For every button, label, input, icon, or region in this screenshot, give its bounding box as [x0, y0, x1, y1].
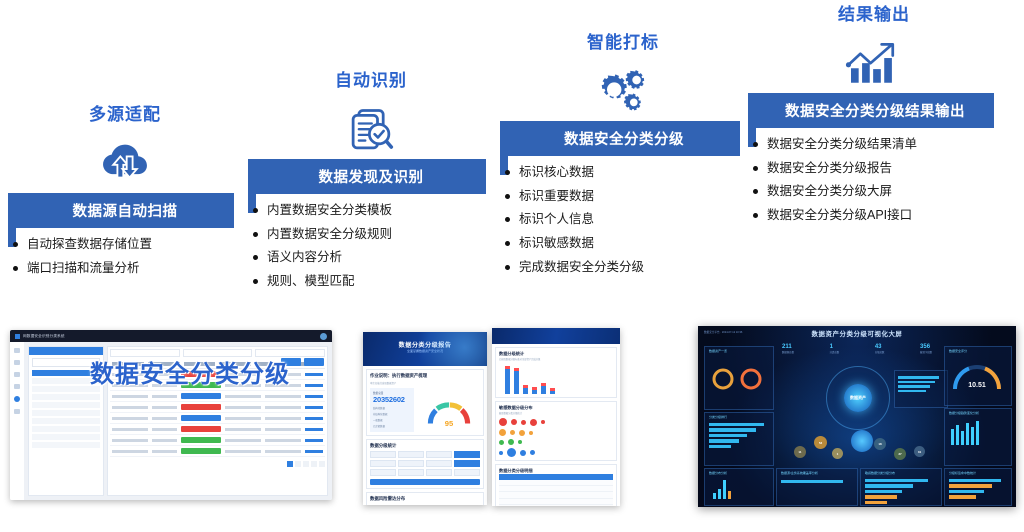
orbit-node: 1	[832, 448, 843, 459]
column-title: 结果输出	[748, 0, 1000, 25]
card-3: 数据安全分类分级 标识核心数据 标识重要数据 标识个人信息 标识敏感数据 完成数…	[500, 121, 746, 275]
bullet-item: 内置数据安全分级规则	[252, 227, 494, 243]
screenshot-report-page[interactable]: 数据分类分级报告 全面掌握数据资产安全状况 作业说明：执行数据资产梳理 本次扫描…	[363, 332, 487, 505]
kpi-mini-stat: 非结构化数据	[373, 412, 411, 416]
report-hero-banner: 数据分类分级报告 全面掌握数据资产安全状况	[363, 332, 487, 366]
grade-bar-chart	[499, 364, 613, 394]
pagination[interactable]	[110, 457, 325, 467]
column-title: 多源适配	[8, 100, 242, 125]
bullet-item: 标识核心数据	[504, 165, 746, 181]
cell-description	[152, 417, 177, 420]
panel-label-hits: 分级标签命中数统计	[944, 468, 1012, 506]
bubble	[541, 420, 545, 424]
card-bullets: 内置数据安全分类模板 内置数据安全分级规则 语义内容分析 规则、模型匹配	[248, 194, 494, 290]
avatar[interactable]	[320, 333, 327, 340]
panel-coverage: 数据源/业务系统覆盖率分析	[776, 468, 858, 506]
bullet-item: 标识重要数据	[504, 189, 746, 205]
dashboard-title: 数据资产分类分级可视化大屏	[698, 329, 1016, 338]
bar-chart-trend-icon	[748, 35, 1000, 93]
bar	[532, 387, 537, 394]
panel-asset-overview: 数据资产一览	[704, 346, 774, 410]
table-row[interactable]	[110, 424, 325, 435]
card-bullets: 标识核心数据 标识重要数据 标识个人信息 标识敏感数据 完成数据安全分类分级	[500, 156, 746, 275]
cell-type	[225, 406, 261, 409]
bubble	[521, 420, 526, 425]
grade-chip[interactable]	[454, 469, 480, 476]
bar	[976, 421, 979, 445]
bar	[865, 490, 902, 493]
report-summary-panel: 作业说明：执行数据资产梳理 本次扫描共发现数据资产 数据总量 20352602 …	[366, 369, 484, 436]
kpi-mini-stat: 结构化数据	[373, 406, 411, 410]
orbit-node: 11	[794, 446, 806, 458]
cell-system	[112, 439, 148, 442]
bar	[723, 480, 726, 499]
bar	[865, 501, 887, 504]
panel-sensitive-distribution: 敏感数据分类分级分布	[860, 468, 942, 506]
bar	[951, 429, 954, 445]
panel-subtitle: 本次扫描共发现数据资产	[370, 381, 480, 385]
panel-tooltip-list	[894, 370, 948, 408]
grade-chip[interactable]	[398, 469, 424, 476]
screenshot-bigscreen-dashboard[interactable]: 数据安全平台 · 2024-07-12 10:36 数据资产分类分级可视化大屏 …	[698, 326, 1016, 507]
grade-chip-grid[interactable]	[370, 451, 480, 476]
cell-system	[112, 450, 148, 453]
list-row	[898, 385, 930, 388]
grade-chip[interactable]	[454, 460, 480, 467]
bar	[713, 493, 716, 499]
bubble	[499, 418, 507, 426]
row-actions[interactable]	[305, 450, 323, 453]
bubble	[499, 451, 503, 455]
cell-type	[225, 439, 261, 442]
kpi-label: 分类总数	[830, 350, 840, 354]
kpi-item: 356 敏感字段数	[920, 344, 932, 354]
bubble	[530, 419, 537, 426]
cell-type	[225, 428, 261, 431]
coverage-bar	[781, 480, 843, 483]
panel-subtitle: 已按照数据分级标准对全部资产完成分级	[499, 357, 613, 361]
card-header: 数据发现及识别	[256, 159, 486, 194]
screenshot-statistics-page[interactable]: 数据分级统计 已按照数据分级标准对全部资产完成分级 敏感数据分级分布 敏感数据分…	[492, 328, 620, 506]
rank-bar	[709, 434, 747, 437]
security-score-gauge: 95	[417, 388, 480, 432]
orbit-node: 18	[874, 438, 886, 450]
distribution-bar-chart	[705, 475, 773, 499]
column-title: 自动识别	[248, 66, 494, 91]
tree-node[interactable]	[32, 418, 100, 424]
nav-icon-dashboard[interactable]	[14, 348, 20, 353]
kpi-mini-stat: 一般数据	[373, 418, 411, 422]
kpi-item: 1 分类总数	[830, 344, 840, 354]
product-screenshot-strip: 网数据安全识别分类系统	[0, 324, 1024, 532]
page-button[interactable]	[311, 461, 317, 467]
level-tag	[181, 404, 221, 410]
table-row[interactable]	[110, 446, 325, 457]
cell-description	[152, 428, 177, 431]
bar	[541, 383, 546, 394]
nav-icon-assets[interactable]	[14, 360, 20, 365]
bar	[956, 425, 959, 445]
dashboard-kpi-row: 211 数据源总数 1 分类总数 43 分级总数 356 敏感字段数	[782, 344, 932, 354]
grade-chip[interactable]	[426, 469, 452, 476]
cloud-sync-icon	[8, 135, 242, 193]
bullet-item: 数据安全分类分级结果清单	[752, 137, 1000, 153]
card-header: 数据源自动扫描	[16, 193, 234, 228]
list-row	[898, 376, 939, 379]
bullet-item: 完成数据安全分类分级	[504, 260, 746, 276]
cell-attribute	[265, 428, 301, 431]
cell-system	[112, 428, 148, 431]
grade-chip[interactable]	[426, 451, 452, 458]
central-orbit-graph: 数据资产	[826, 366, 890, 430]
table-row[interactable]	[110, 435, 325, 446]
kpi-item: 43 分级总数	[875, 344, 885, 354]
bullet-item: 数据安全分类分级报告	[752, 161, 1000, 177]
row-actions[interactable]	[305, 395, 323, 398]
orbit-node	[851, 430, 873, 452]
document-search-icon	[248, 101, 494, 159]
grade-chip[interactable]	[426, 460, 452, 467]
level-tag	[181, 448, 221, 454]
view-detail-button[interactable]	[370, 479, 480, 485]
tree-node[interactable]	[32, 434, 100, 440]
bubble	[518, 440, 522, 444]
process-column-2: 自动识别 数据发现及识别 内置数据安全分类模板 内置数据	[248, 66, 494, 298]
level-tag	[181, 437, 221, 443]
process-column-1: 多源适配 数据源自动扫描 自动探查数据存储位置 端口扫描和流量分析	[8, 100, 242, 284]
rank-bar	[709, 428, 756, 431]
tree-node[interactable]	[32, 410, 100, 416]
row-actions[interactable]	[305, 428, 323, 431]
bullet-item: 标识个人信息	[504, 212, 746, 228]
card-bullets: 数据安全分类分级结果清单 数据安全分类分级报告 数据安全分类分级大屏 数据安全分…	[748, 128, 1000, 224]
grade-chip[interactable]	[398, 460, 424, 467]
bar	[949, 490, 984, 493]
cell-attribute	[265, 417, 301, 420]
bubble	[510, 430, 515, 435]
bubble	[499, 429, 506, 436]
bar	[949, 495, 976, 498]
kpi-label: 敏感字段数	[920, 350, 932, 354]
cell-type	[225, 450, 261, 453]
radar-panel: 数据风险雷达分布	[366, 492, 484, 505]
bubble	[511, 419, 517, 425]
column-title: 智能打标	[500, 28, 746, 53]
grade-chip[interactable]	[370, 460, 396, 467]
bubble-chart	[499, 418, 613, 457]
bubble	[499, 440, 504, 445]
panel-title: 数据分级统计	[370, 443, 480, 449]
bubble	[519, 430, 525, 436]
rank-bar	[709, 445, 731, 448]
grade-chip[interactable]	[398, 451, 424, 458]
gauge-score: 95	[444, 419, 453, 428]
bullet-item: 数据安全分类分级API接口	[752, 208, 1000, 224]
tree-node[interactable]	[32, 442, 100, 448]
cell-type	[225, 395, 261, 398]
table-row[interactable]	[110, 413, 325, 424]
bar	[718, 489, 721, 499]
panel-trend: 数据分级趋势变化分析	[944, 408, 1012, 466]
bullet-item: 规则、模型匹配	[252, 274, 494, 290]
page-button[interactable]	[287, 461, 293, 467]
card-header: 数据安全分类分级	[508, 121, 740, 156]
app-titlebar: 网数据安全识别分类系统	[10, 330, 332, 342]
bar	[865, 479, 928, 482]
cell-description	[152, 439, 177, 442]
grade-stats-panel: 数据分级统计	[366, 439, 484, 489]
cell-attribute	[265, 450, 301, 453]
core-node: 数据资产	[844, 384, 872, 412]
tree-node[interactable]	[32, 426, 100, 432]
bar	[961, 431, 964, 445]
dashboard-header: 数据安全平台 · 2024-07-12 10:36 数据资产分类分级可视化大屏	[698, 326, 1016, 342]
kpi-label: 分级总数	[875, 350, 885, 354]
bar	[971, 427, 974, 445]
process-overview: 多源适配 数据源自动扫描 自动探查数据存储位置 端口扫描和流量分析 自动识别	[0, 0, 1024, 322]
report-subtitle: 全面掌握数据资产安全状况	[363, 349, 487, 353]
bubble	[508, 439, 514, 445]
report-title: 数据分类分级报告	[363, 340, 487, 349]
left-nav-rail[interactable]	[10, 342, 24, 500]
card-1: 数据源自动扫描 自动探查数据存储位置 端口扫描和流量分析	[8, 193, 242, 276]
tree-node[interactable]	[32, 394, 100, 400]
cell-system	[112, 406, 148, 409]
cell-attribute	[265, 439, 301, 442]
bar	[514, 368, 519, 394]
bar	[505, 366, 510, 394]
rank-bar	[709, 423, 764, 426]
rank-bar	[709, 439, 739, 442]
cell-system	[112, 417, 148, 420]
card-header: 数据安全分类分级结果输出	[756, 93, 994, 128]
cell-description	[152, 450, 177, 453]
stats-hero-banner	[492, 328, 620, 344]
kpi-mini-stat: 已定密数据	[373, 424, 411, 428]
page-button[interactable]	[319, 461, 325, 467]
bar	[949, 484, 992, 487]
card-2: 数据发现及识别 内置数据安全分类模板 内置数据安全分级规则 语义内容分析 规则、…	[248, 159, 494, 290]
svg-text:10.51: 10.51	[968, 382, 986, 389]
nav-icon-rules[interactable]	[14, 384, 20, 389]
kpi-value: 20352602	[373, 395, 411, 404]
bubble	[520, 450, 526, 456]
panel-title: 数据风险雷达分布	[370, 496, 480, 502]
tree-node[interactable]	[32, 402, 100, 408]
cell-system	[112, 395, 148, 398]
cell-description	[152, 406, 177, 409]
cell-type	[225, 417, 261, 420]
detail-table-panel: 数据分类分级明细	[495, 464, 617, 506]
table-row[interactable]	[110, 402, 325, 413]
bullet-item: 数据安全分类分级大屏	[752, 184, 1000, 200]
bar	[550, 388, 555, 394]
screenshot-overlay-title: 数据安全分类分级	[58, 354, 322, 389]
list-row	[898, 381, 935, 384]
kpi-label: 数据源总数	[782, 350, 794, 354]
bullet-item: 自动探查数据存储位置	[12, 237, 242, 253]
bar	[865, 495, 897, 498]
bubble	[507, 448, 516, 457]
level-tag	[181, 426, 221, 432]
process-column-3: 智能打标 数据安全分类分级 标识核心数据	[500, 28, 746, 283]
cell-attribute	[265, 395, 301, 398]
grade-chip[interactable]	[454, 451, 480, 458]
page-button[interactable]	[295, 461, 301, 467]
detail-table[interactable]	[499, 474, 613, 506]
gears-icon	[500, 63, 746, 121]
list-row	[898, 390, 926, 393]
bar	[865, 484, 913, 487]
orbit-node: 37	[894, 448, 906, 460]
table-row[interactable]	[499, 504, 613, 506]
sensitive-distribution-panel: 敏感数据分级分布 敏感数据分类分级统计	[495, 401, 617, 461]
process-column-4: 结果输出 数据安全分类分级结果输出 数据安全分类分级结果清单 数据安全分类分级报…	[748, 0, 1000, 232]
kpi-item: 211 数据源总数	[782, 344, 794, 354]
bubble	[529, 431, 533, 435]
card-4: 数据安全分类分级结果输出 数据安全分类分级结果清单 数据安全分类分级报告 数据安…	[748, 93, 1000, 224]
nav-icon-scan[interactable]	[14, 372, 20, 377]
bar	[949, 479, 1001, 482]
bar	[966, 423, 969, 445]
bar	[728, 491, 731, 499]
app-title: 网数据安全识别分类系统	[23, 334, 65, 339]
panel-title: 作业说明：执行数据资产梳理	[370, 373, 480, 379]
bullet-item: 标识敏感数据	[504, 236, 746, 252]
panel-subtitle: 敏感数据分类分级统计	[499, 411, 613, 415]
trend-bar-chart	[945, 415, 1011, 445]
nav-icon-reports[interactable]	[14, 409, 20, 414]
grade-stats-chart-panel: 数据分级统计 已按照数据分级标准对全部资产完成分级	[495, 347, 617, 398]
cell-attribute	[265, 406, 301, 409]
page-button[interactable]	[303, 461, 309, 467]
grade-chip[interactable]	[370, 451, 396, 458]
orbit-node: 53	[814, 436, 827, 449]
nav-icon-classification[interactable]	[14, 396, 20, 402]
bullet-item: 端口扫描和流量分析	[12, 261, 242, 277]
orbit-node: 31	[914, 446, 925, 457]
grade-chip[interactable]	[370, 469, 396, 476]
bar	[523, 385, 528, 394]
level-tag	[181, 393, 221, 399]
bullet-item: 语义内容分析	[252, 250, 494, 266]
panel-security-score: 数据安全评分 10.51	[944, 346, 1012, 406]
row-actions[interactable]	[305, 406, 323, 409]
bullet-item: 内置数据安全分类模板	[252, 203, 494, 219]
screenshot-classification-console[interactable]: 网数据安全识别分类系统	[10, 330, 332, 500]
row-actions[interactable]	[305, 417, 323, 420]
kpi-card: 数据总量 20352602 结构化数据 非结构化数据 一般数据 已定密数据	[370, 388, 414, 432]
level-tag	[181, 415, 221, 421]
row-actions[interactable]	[305, 439, 323, 442]
app-logo-icon	[15, 334, 20, 339]
panel-distribution: 数据分布分析	[704, 468, 774, 506]
cell-description	[152, 395, 177, 398]
panel-rank: 分类分级排行	[704, 412, 774, 466]
bubble	[530, 450, 535, 455]
table-row[interactable]	[110, 391, 325, 402]
card-bullets: 自动探查数据存储位置 端口扫描和流量分析	[8, 228, 242, 276]
